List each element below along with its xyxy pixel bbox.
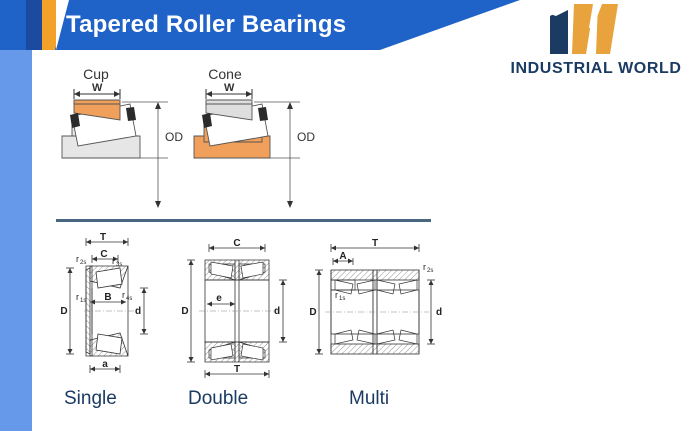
company-name: INDUSTRIAL WORLD [497,60,695,78]
double-label: Double [188,388,248,410]
cup-width-label: W [92,82,102,94]
svg-text:4s: 4s [126,296,132,302]
bearing-configuration-group: T C [44,228,464,388]
svg-text:d: d [135,306,141,317]
svg-text:r: r [112,256,115,266]
company-logo: INDUSTRIAL WORLD [497,4,695,84]
page-title: Tapered Roller Bearings [66,11,346,39]
svg-text:1s: 1s [80,298,86,304]
svg-text:d: d [436,307,442,318]
svg-text:T: T [372,238,378,249]
svg-text:r: r [423,262,426,272]
svg-text:D: D [60,306,67,317]
svg-text:3s: 3s [116,262,122,268]
svg-text:T: T [100,232,106,243]
slide-canvas: Tapered Roller Bearings INDUSTRIAL WORLD… [0,0,700,431]
iw-logo-mark-icon [546,4,646,54]
svg-text:r: r [122,290,125,300]
svg-text:a: a [102,359,108,370]
svg-text:C: C [100,249,107,260]
single-label: Single [64,388,117,410]
svg-text:2s: 2s [427,268,433,274]
svg-text:r: r [76,292,79,302]
svg-text:1s: 1s [339,296,345,302]
svg-text:T: T [234,364,240,375]
svg-text:r: r [76,254,79,264]
svg-text:e: e [216,293,222,304]
svg-text:r: r [335,290,338,300]
left-accent-bar [0,46,32,431]
multi-bearing-drawing: T A [309,228,454,383]
svg-text:D: D [181,306,188,317]
svg-text:B: B [104,292,111,303]
cone-od-label: OD [295,130,317,144]
section-divider [56,219,431,222]
cone-width-label: W [224,82,234,94]
single-bearing-drawing: T C [56,228,171,383]
multi-label: Multi [349,388,389,410]
svg-text:d: d [274,306,280,317]
svg-text:C: C [233,238,240,249]
cup-cone-diagram-group: Cup [44,58,344,208]
svg-text:2s: 2s [80,260,86,266]
svg-text:D: D [309,307,316,318]
double-bearing-drawing: C D [179,228,309,383]
svg-text:A: A [339,251,346,262]
cone-drawing [174,58,344,208]
